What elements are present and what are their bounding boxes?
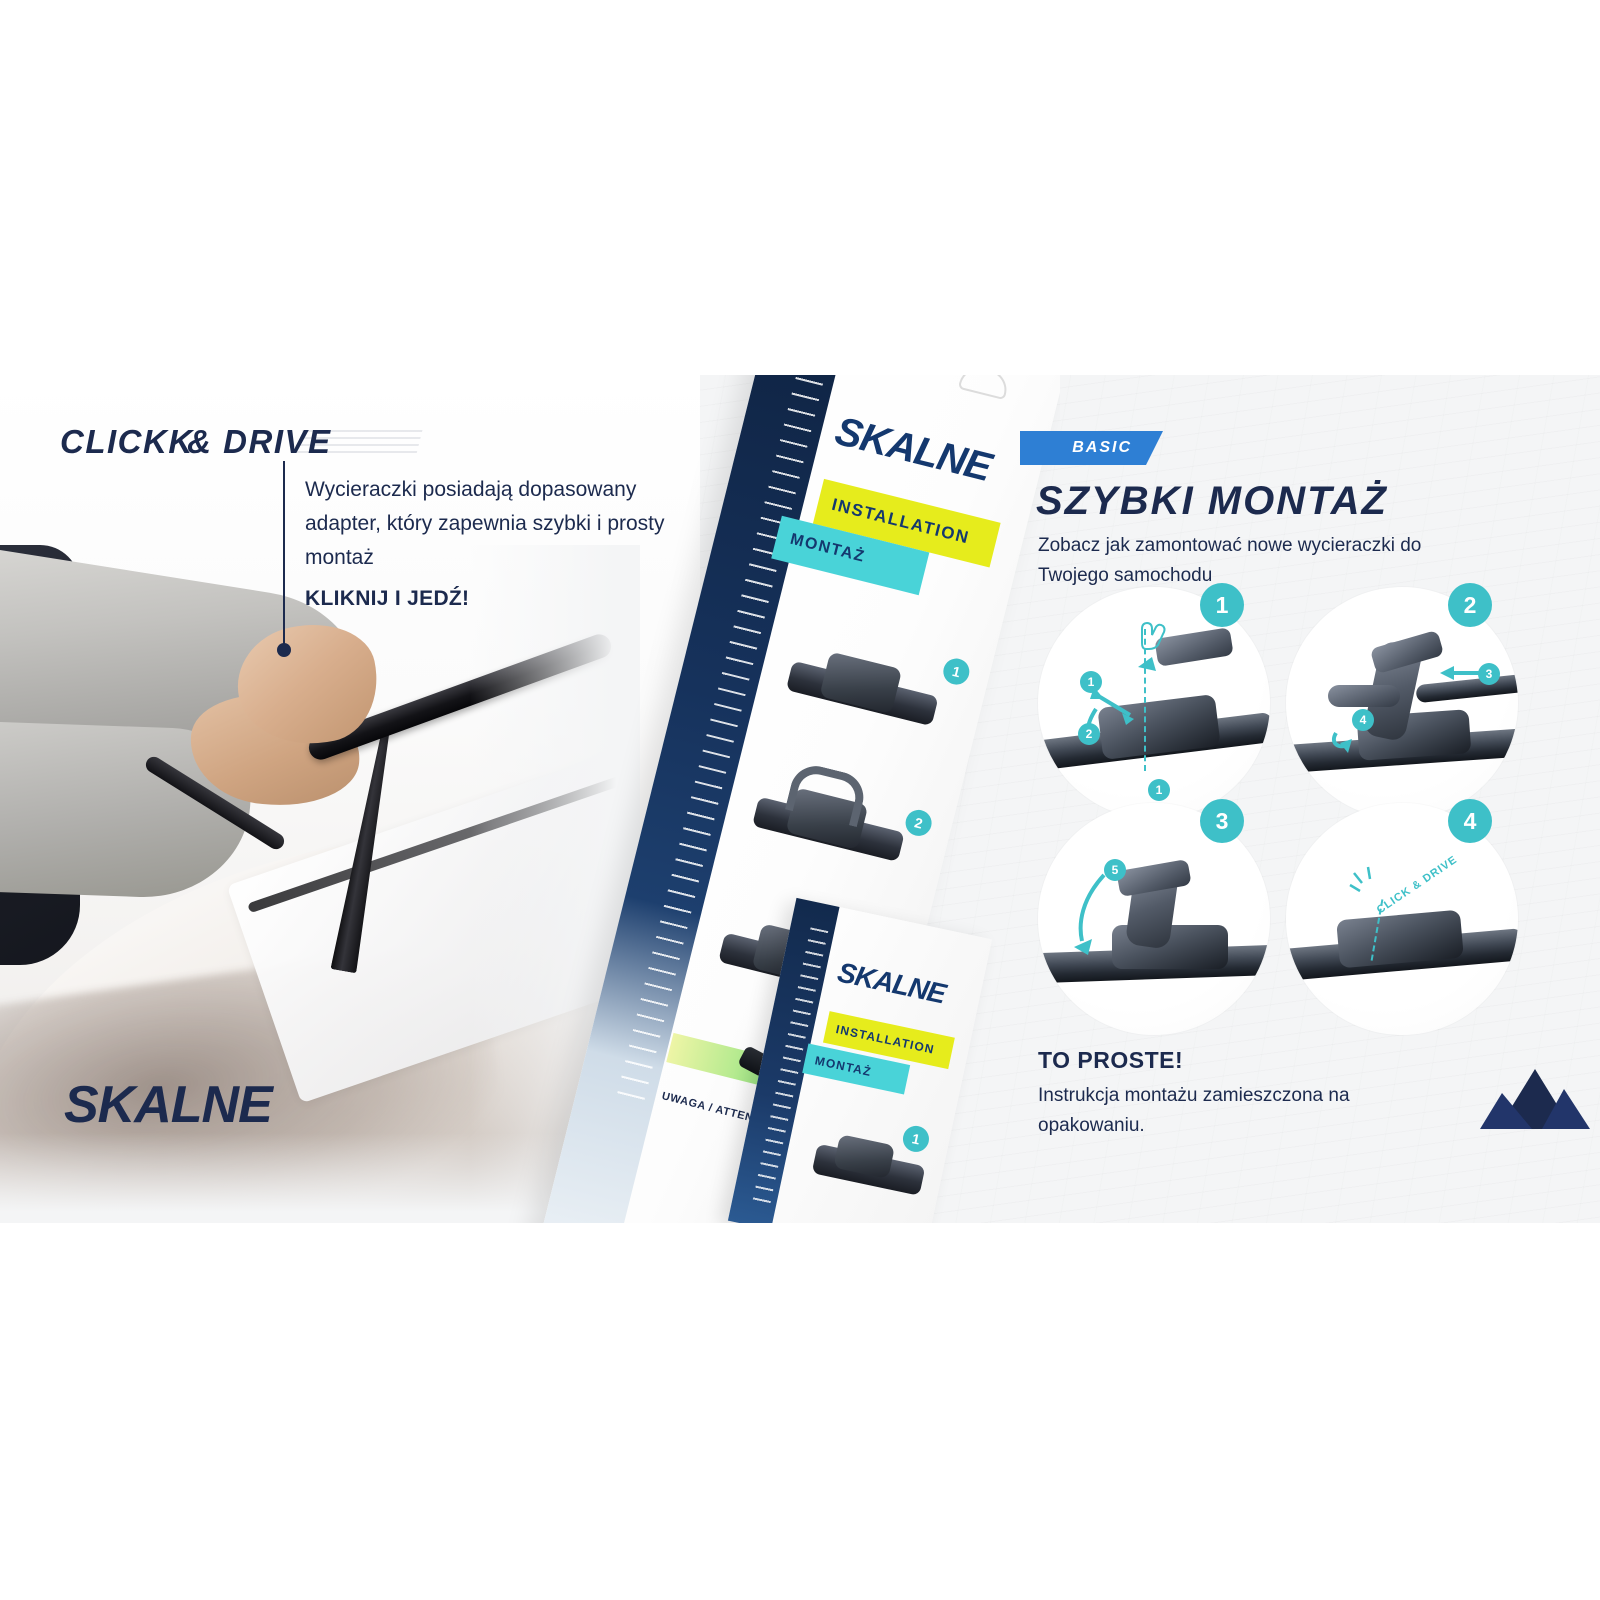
banner: CLICKK& DRIVE Wycieraczki posiadają dopa… bbox=[0, 375, 1600, 1223]
package-tag-montaz-label: MONTAŻ bbox=[788, 531, 867, 567]
headline-k-glyph: K bbox=[168, 423, 187, 461]
step1-marker-3: 1 bbox=[1148, 779, 1170, 801]
brand-logo-left: SKALNE bbox=[64, 1075, 272, 1135]
right-panel: BASIC SZYBKI MONTAŻ Zobacz jak zamontowa… bbox=[1020, 375, 1600, 1223]
step3-marker-1: 5 bbox=[1104, 859, 1126, 881]
package-step-2-number: 2 bbox=[903, 807, 935, 839]
right-title: SZYBKI MONTAŻ bbox=[1036, 479, 1388, 524]
step-number-1: 1 bbox=[1200, 583, 1244, 627]
mountain-logo-icon bbox=[1480, 1065, 1590, 1135]
package-step-1-body bbox=[819, 652, 902, 715]
package-small-step-number: 1 bbox=[901, 1124, 932, 1155]
step2-marker-1: 3 bbox=[1478, 663, 1500, 685]
poster-canvas: CLICKK& DRIVE Wycieraczki posiadają dopa… bbox=[0, 0, 1600, 1600]
step-number-4: 4 bbox=[1448, 799, 1492, 843]
basic-badge-label: BASIC bbox=[1072, 439, 1132, 457]
click-and-drive-title: CLICKK& DRIVE bbox=[60, 423, 332, 461]
step-number-2: 2 bbox=[1448, 583, 1492, 627]
steps-gallery: 1 2 1 1 bbox=[1028, 587, 1558, 1027]
step1-hand-icon bbox=[1134, 617, 1174, 651]
right-subtitle: Zobacz jak zamontować nowe wycieraczki d… bbox=[1038, 531, 1468, 591]
package-step-1-number: 1 bbox=[941, 656, 973, 688]
basic-badge: BASIC bbox=[1020, 431, 1146, 465]
leader-dot bbox=[277, 643, 291, 657]
package-logo: SKALNE bbox=[831, 409, 996, 491]
brand-logo-left-text: SKALNE bbox=[64, 1076, 272, 1134]
packaging-area: SKALNE INSTALLATION MONTAŻ 1 2 bbox=[400, 375, 1060, 1223]
step1-marker-1: 1 bbox=[1080, 671, 1102, 693]
headline-part2: & DRIVE bbox=[187, 423, 331, 460]
package-small-step-illustration: 1 bbox=[798, 1102, 934, 1215]
step-number-3: 3 bbox=[1200, 799, 1244, 843]
leader-line bbox=[283, 461, 285, 651]
package-small-logo: SKALNE bbox=[835, 956, 948, 1010]
package-hang-hole bbox=[958, 375, 1011, 400]
headline-part1: CLICK bbox=[60, 423, 168, 460]
step1-marker-2: 2 bbox=[1078, 723, 1100, 745]
step2-marker-2: 4 bbox=[1352, 709, 1374, 731]
footer-body: Instrukcja montażu zamieszczona na opako… bbox=[1038, 1081, 1438, 1141]
package-small-tag-montaz-label: MONTAŻ bbox=[814, 1053, 873, 1079]
footer-title: TO PROSTE! bbox=[1038, 1047, 1183, 1074]
